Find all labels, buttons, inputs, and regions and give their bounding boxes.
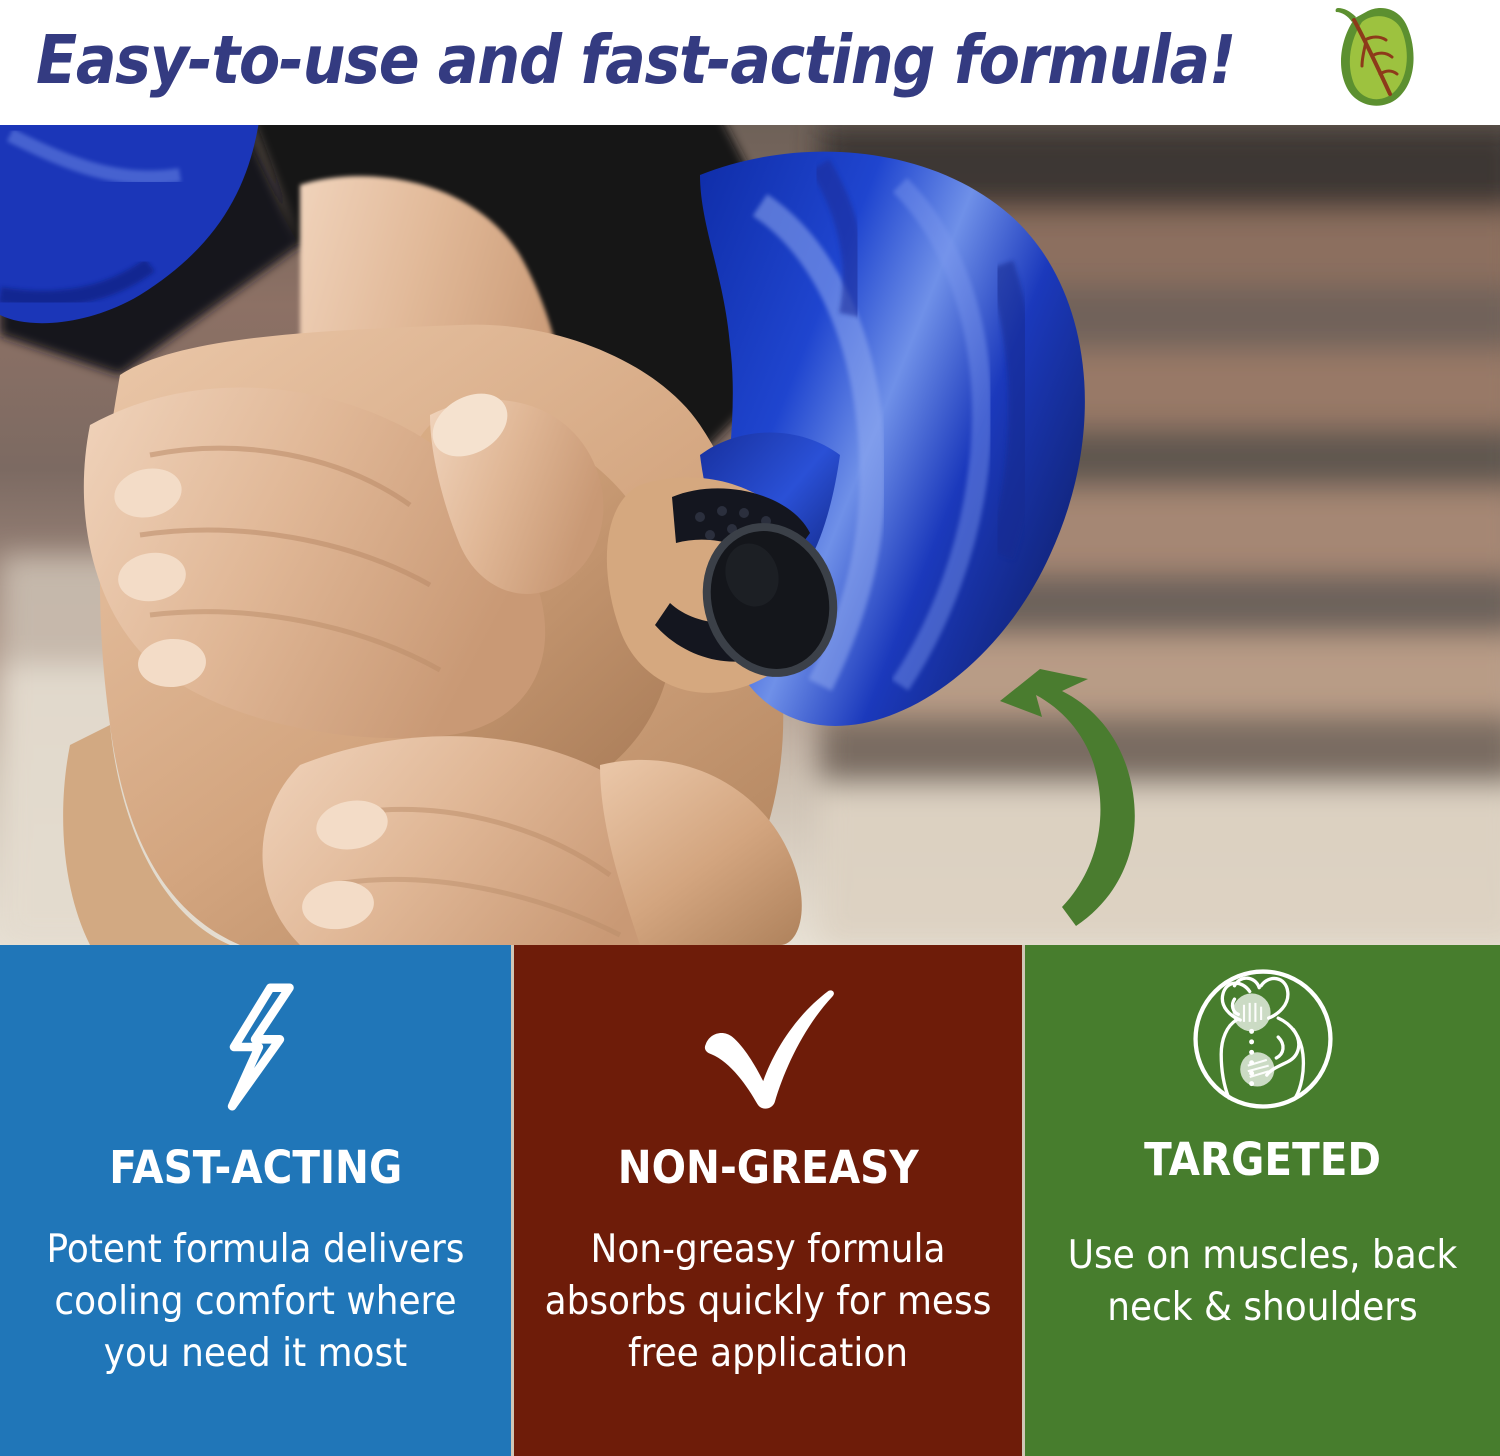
page-title: Easy-to-use and fast-acting formula! <box>36 8 1235 112</box>
header-banner: Easy-to-use and fast-acting formula! <box>0 0 1500 125</box>
leaf-icon <box>1322 2 1428 114</box>
feature-description: Non-greasy formula absorbs quickly for m… <box>534 1224 1001 1380</box>
back-neck-pain-icon <box>1187 959 1339 1119</box>
feature-panel-fast-acting: FAST-ACTING Potent formula delivers cool… <box>0 945 511 1456</box>
feature-heading: NON-GREASY <box>618 1141 919 1194</box>
checkmark-icon <box>696 967 840 1127</box>
feature-panels: FAST-ACTING Potent formula delivers cool… <box>0 945 1500 1456</box>
feature-heading: TARGETED <box>1144 1133 1381 1186</box>
feature-description: Use on muscles, back neck & shoulders <box>1044 1230 1481 1334</box>
feature-description: Potent formula delivers cooling comfort … <box>20 1224 490 1380</box>
feature-panel-non-greasy: NON-GREASY Non-greasy formula absorbs qu… <box>511 945 1022 1456</box>
hero-photo <box>0 125 1500 945</box>
lightning-bolt-icon <box>213 967 299 1127</box>
feature-heading: FAST-ACTING <box>109 1141 402 1194</box>
feature-panel-targeted: TARGETED Use on muscles, back neck & sho… <box>1022 945 1500 1456</box>
